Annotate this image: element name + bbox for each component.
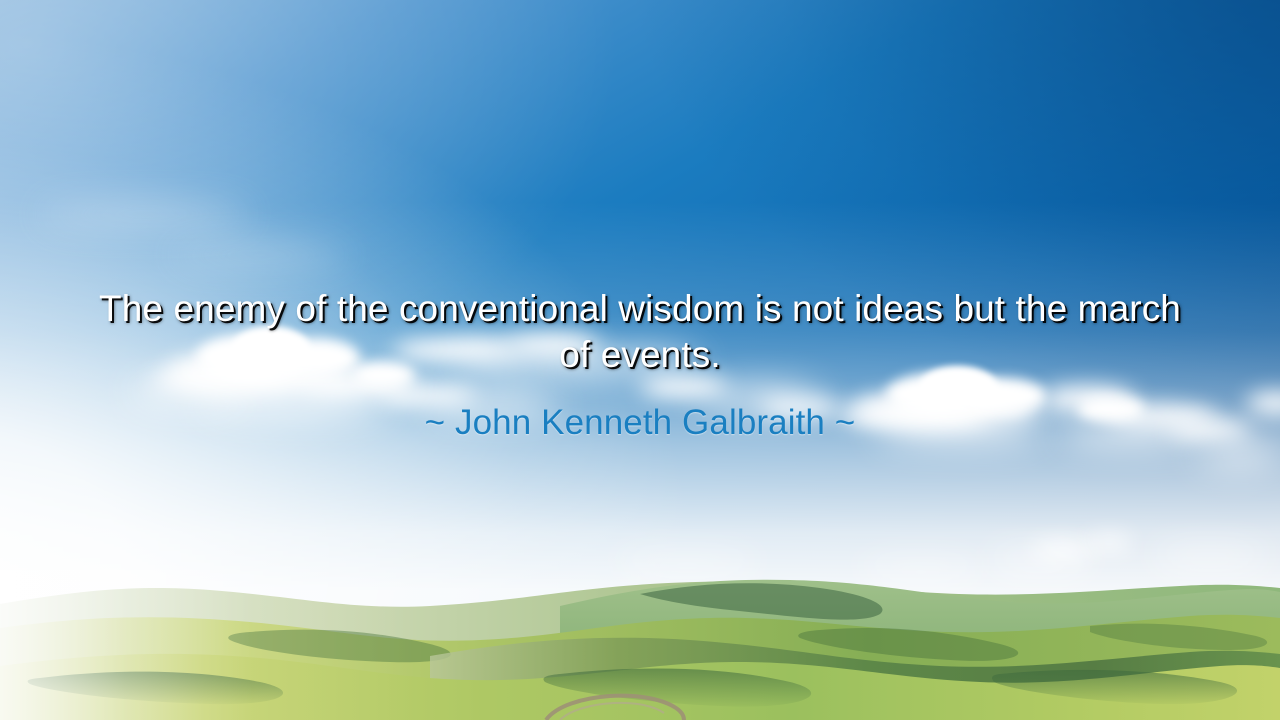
hills-landscape — [0, 570, 1280, 720]
quote-text-block: The enemy of the conventional wisdom is … — [0, 286, 1280, 444]
quote-author: ~ John Kenneth Galbraith ~ — [80, 402, 1200, 444]
quote-text: The enemy of the conventional wisdom is … — [80, 286, 1200, 378]
quote-wallpaper: The enemy of the conventional wisdom is … — [0, 0, 1280, 720]
